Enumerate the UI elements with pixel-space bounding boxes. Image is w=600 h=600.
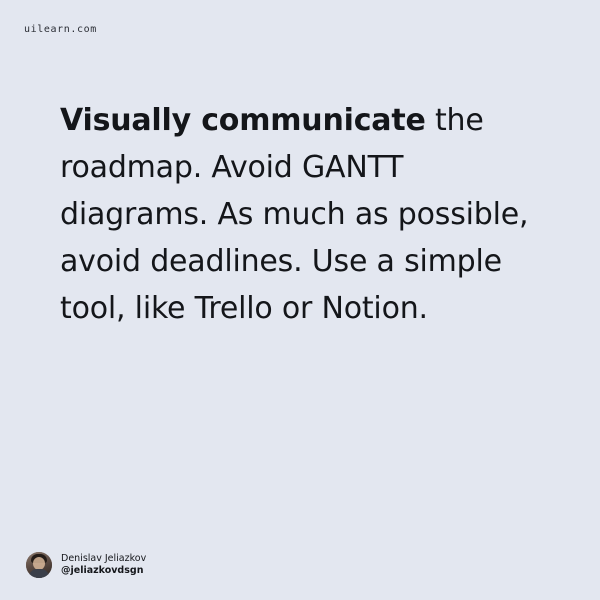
avatar — [26, 552, 52, 578]
quote-lead: Visually communicate — [60, 103, 426, 138]
site-watermark: uilearn.com — [24, 24, 97, 35]
author-footer: Denislav Jeliazkov @jeliazkovdsgn — [26, 552, 146, 578]
author-meta: Denislav Jeliazkov @jeliazkovdsgn — [61, 553, 146, 577]
author-handle: @jeliazkovdsgn — [61, 565, 146, 577]
avatar-body — [29, 569, 49, 578]
quote-text: Visually communicate the roadmap. Avoid … — [60, 97, 530, 332]
author-name: Denislav Jeliazkov — [61, 553, 146, 565]
quote-card: uilearn.com Visually communicate the roa… — [0, 0, 600, 600]
